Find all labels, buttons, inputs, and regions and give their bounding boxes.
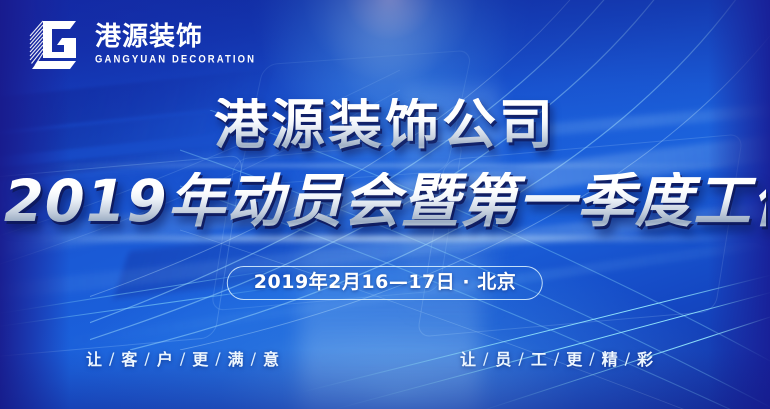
slogan-char: 户 [157,350,173,369]
slogan-separator: / [173,351,192,367]
slogan-char: 让 [86,350,102,369]
slogan-separator: / [511,351,530,367]
logo-name-cn: 港源装饰 [95,24,256,50]
slogan-separator: / [244,351,263,367]
logo-wordmark: 港源装饰 GANGYUAN DECORATION [95,23,256,65]
slogan-separator: / [618,351,637,367]
logo-name-en: GANGYUAN DECORATION [95,55,256,66]
slogan-char: 精 [602,350,618,369]
slogan-char: 满 [228,350,244,369]
slogan-char: 员 [495,350,511,369]
slogan-separator: / [208,351,227,367]
slogan-char: 更 [566,350,582,369]
conference-banner: 港源装饰 GANGYUAN DECORATION 港源装饰公司 2019年动员会… [0,0,770,409]
slogan-char: 客 [121,350,137,369]
slogan-char: 更 [192,350,208,369]
slogan-char: 工 [531,350,547,369]
page-subtitle: 2019年动员会暨第一季度工作会议 [4,172,766,230]
slogan-separator: / [476,351,495,367]
slogan-separator: / [137,351,156,367]
slogan-left: 让/客/户/更/满/意 [86,352,279,368]
slogan-separator: / [102,351,121,367]
gangyuan-g-monogram-icon [24,16,86,72]
slogan-separator: / [547,351,566,367]
brand-logo: 港源装饰 GANGYUAN DECORATION [24,16,256,72]
slogan-char: 彩 [637,350,653,369]
slogan-right: 让/员/工/更/精/彩 [460,352,653,368]
date-location-badge: 2019年2月16—17日 · 北京 [227,266,543,300]
slogan-char: 让 [460,350,476,369]
slogan-char: 意 [263,350,279,369]
slogan-separator: / [582,351,601,367]
page-title: 港源装饰公司 [0,98,770,152]
